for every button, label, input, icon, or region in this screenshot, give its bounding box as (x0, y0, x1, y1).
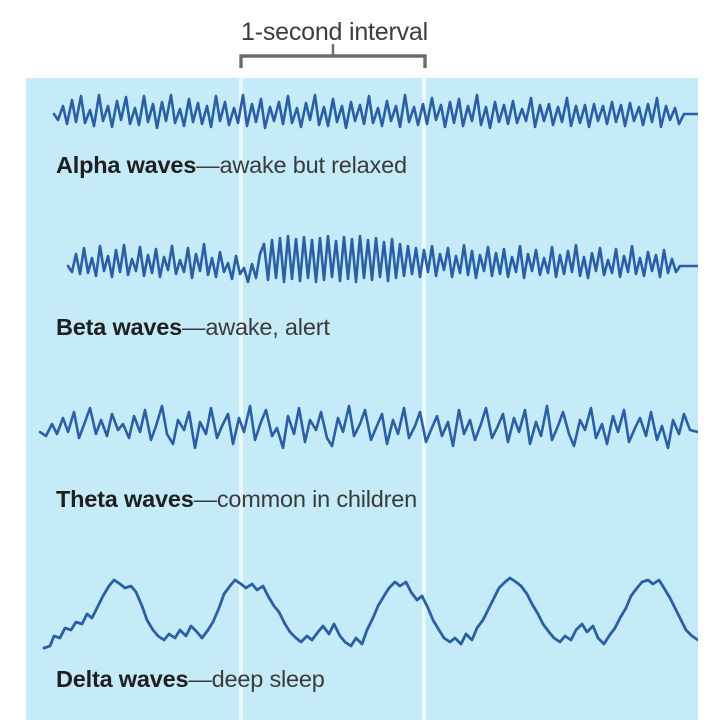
waveform-trace-delta (26, 566, 698, 660)
interval-bracket (0, 0, 726, 78)
wave-panel: Alpha waves—awake but relaxed Beta waves… (26, 78, 698, 720)
scale-annotation: 1-second interval (0, 0, 726, 78)
wave-description-delta: deep sleep (212, 666, 325, 692)
theta-wave-path (40, 406, 698, 448)
wave-separator-beta: — (182, 314, 205, 340)
beta-wave-path (68, 236, 698, 282)
theta-wave-svg (26, 400, 698, 460)
bracket-path (241, 56, 425, 68)
wave-name-beta: Beta waves (56, 314, 182, 340)
alpha-wave-svg (26, 84, 698, 144)
waveform-trace-beta (26, 234, 698, 294)
wave-label-delta: Delta waves—deep sleep (56, 666, 325, 693)
waveform-trace-alpha (26, 84, 698, 144)
wave-description-beta: awake, alert (205, 314, 329, 340)
wave-label-alpha: Alpha waves—awake but relaxed (56, 152, 407, 179)
wave-separator-alpha: — (196, 152, 219, 178)
wave-separator-delta: — (188, 666, 211, 692)
wave-description-theta: common in children (217, 486, 417, 512)
alpha-wave-path (54, 95, 698, 128)
delta-wave-path (44, 578, 698, 648)
waveform-trace-theta (26, 400, 698, 460)
wave-label-beta: Beta waves—awake, alert (56, 314, 330, 341)
wave-name-theta: Theta waves (56, 486, 194, 512)
delta-wave-svg (26, 566, 698, 660)
beta-wave-svg (26, 234, 698, 294)
wave-description-alpha: awake but relaxed (219, 152, 406, 178)
wave-name-delta: Delta waves (56, 666, 188, 692)
wave-label-theta: Theta waves—common in children (56, 486, 417, 513)
wave-separator-theta: — (194, 486, 217, 512)
wave-name-alpha: Alpha waves (56, 152, 196, 178)
